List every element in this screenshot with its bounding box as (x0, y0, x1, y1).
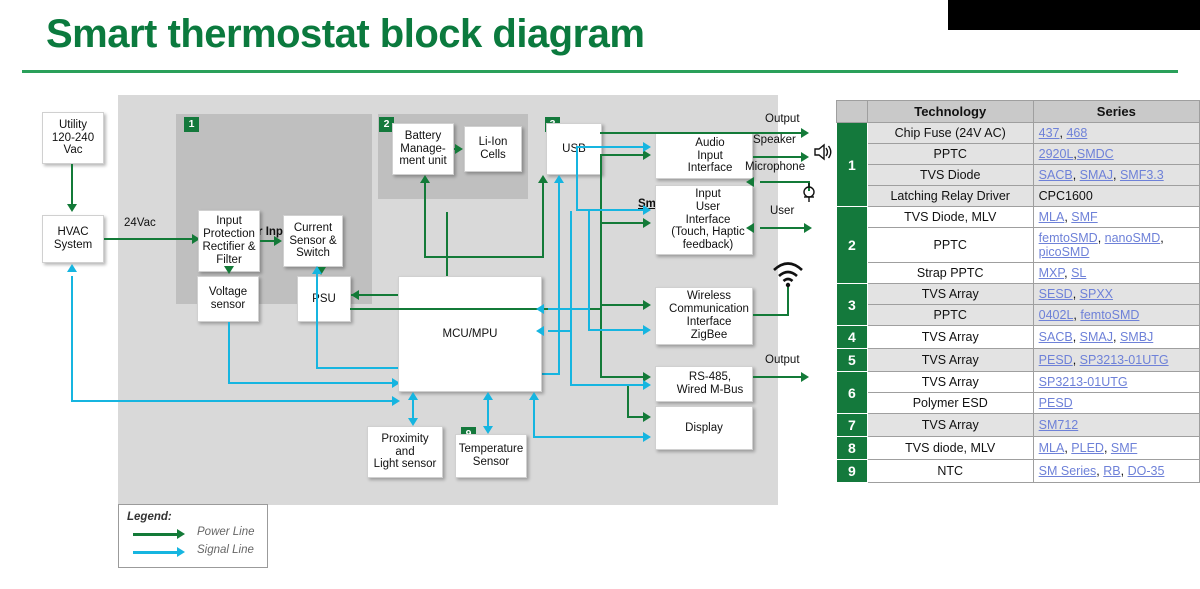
legend-power-line (133, 533, 181, 536)
arrow-user-in (746, 223, 754, 233)
legend-signal-arrow (177, 547, 185, 557)
legend-power-label: Power Line (197, 526, 255, 538)
series-link[interactable]: SMBJ (1120, 330, 1153, 344)
wire-bus-uui (600, 222, 647, 224)
table-row: 9NTCSM Series, RB, DO-35 (837, 460, 1200, 483)
arrow-usb-signal-up (554, 175, 564, 183)
wire-voltage-mcu-h (228, 382, 398, 384)
arrow-return-mcu-1 (536, 304, 544, 314)
node-rs485-wired-mbus: RS-485, Wired M-Bus (655, 366, 753, 402)
wire-user (760, 227, 808, 229)
wire-mcu-rs485-v (570, 211, 572, 386)
wire-hvac-input (104, 238, 194, 240)
arrow-display-mcu-up (529, 392, 539, 400)
arrow-mcu-proximity-down (408, 418, 418, 426)
label-user: User (770, 205, 794, 217)
index-header (837, 101, 868, 123)
node-proximity-light-sensor: Proximity and Light sensor (367, 426, 443, 478)
arrow-utility-hvac (67, 204, 77, 212)
arrow-bus-uui (643, 218, 651, 228)
group-index-5: 5 (837, 349, 868, 372)
group-index-9: 9 (837, 460, 868, 483)
wire-usb-mcu-v (558, 183, 560, 375)
legend-signal-label: Signal Line (197, 544, 254, 556)
group-index-8: 8 (837, 437, 868, 460)
series-cell: SACB, SMAJ, SMBJ (1033, 326, 1199, 349)
table-row: Latching Relay DriverCPC1600 (837, 186, 1200, 207)
technology-cell: PPTC (867, 228, 1033, 263)
table-row: 4TVS ArraySACB, SMAJ, SMBJ (837, 326, 1200, 349)
arrow-return-mcu-2 (536, 326, 544, 336)
arrow-mcu-wireless (643, 325, 651, 335)
legend-box: Legend: Power Line Signal Line (118, 504, 268, 568)
series-cell: SACB, SMAJ, SMF3.3 (1033, 165, 1199, 186)
node-mcu-mpu: MCU/MPU (398, 276, 542, 392)
table-row: 1Chip Fuse (24V AC)437, 468 (837, 123, 1200, 144)
arrow-user-out (804, 223, 812, 233)
wire-mcu-hvac-v (71, 276, 73, 402)
series-link[interactable]: femtoSMD (1080, 308, 1139, 322)
arrow-mcu-temperature-down (483, 426, 493, 434)
node-voltage-sensor: Voltage sensor (197, 276, 259, 322)
microphone-icon (798, 182, 820, 206)
arrow-input-current (274, 236, 282, 246)
wire-antenna-v (787, 284, 789, 316)
series-link[interactable]: PLED (1071, 441, 1104, 455)
series-cell: CPC1600 (1033, 186, 1199, 207)
wire-mcu-audio-v (576, 146, 578, 211)
technology-header: Technology (867, 101, 1033, 123)
series-link[interactable]: MXP (1039, 266, 1064, 280)
series-link[interactable]: MLA (1039, 210, 1065, 224)
wire-mcu-uui (576, 209, 647, 211)
logo-redaction-bar (948, 0, 1200, 30)
wire-bus-wireless (600, 304, 647, 306)
arrow-output-rs485 (801, 372, 809, 382)
technology-cell: TVS Diode, MLV (867, 207, 1033, 228)
group-index-3: 3 (837, 284, 868, 326)
table-row: TVS DiodeSACB, SMAJ, SMF3.3 (837, 165, 1200, 186)
group-index-7: 7 (837, 414, 868, 437)
group-index-2: 2 (837, 207, 868, 284)
arrow-microphone (746, 177, 754, 187)
arrow-mcu-uui (643, 205, 651, 215)
node-input-protection: Input Protection Rectifier & Filter (198, 210, 260, 272)
series-link[interactable]: SACB (1039, 330, 1073, 344)
group-index-6: 6 (837, 372, 868, 414)
tag-1: 1 (184, 117, 199, 132)
technology-cell: Latching Relay Driver (867, 186, 1033, 207)
technology-cell: Strap PPTC (867, 263, 1033, 284)
node-display: Display (655, 406, 753, 450)
series-link[interactable]: PESD (1039, 396, 1073, 410)
wire-mcu-rs485-h (570, 384, 647, 386)
table-row: 6TVS ArraySP3213-01UTG (837, 372, 1200, 393)
node-usb: USB (546, 123, 602, 175)
series-link[interactable]: SMAJ (1080, 168, 1113, 182)
series-link[interactable]: SMF3.3 (1120, 168, 1164, 182)
arrow-usb-psu (351, 290, 359, 300)
series-link[interactable]: SP3213-01UTG (1080, 353, 1169, 367)
series-link[interactable]: SPXX (1080, 287, 1113, 301)
wire-mcu-current-v (316, 271, 318, 369)
label-microphone: Microphone (745, 161, 805, 173)
page-title: Smart thermostat block diagram (46, 12, 826, 57)
series-link[interactable]: picoSMD (1039, 245, 1090, 259)
arrow-mcu-current (312, 266, 322, 274)
wifi-antenna-icon (770, 260, 806, 288)
table-row: PPTC2920L,SMDC (837, 144, 1200, 165)
wire-output-rs485 (753, 376, 805, 378)
series-cell: PESD, SP3213-01UTG (1033, 349, 1199, 372)
series-link[interactable]: 468 (1066, 126, 1087, 140)
technology-cell: TVS Array (867, 326, 1033, 349)
table-row: Polymer ESDPESD (837, 393, 1200, 414)
arrow-hvac-line-mcu (392, 396, 400, 406)
title-divider (22, 70, 1178, 73)
wire-bus-rs485 (600, 376, 647, 378)
series-link[interactable]: SMDC (1077, 147, 1114, 161)
series-cell: SESD, SPXX (1033, 284, 1199, 305)
table-body: 1Chip Fuse (24V AC)437, 468PPTC2920L,SMD… (837, 123, 1200, 483)
wire-antenna-h (753, 314, 789, 316)
series-cell: SM Series, RB, DO-35 (1033, 460, 1199, 483)
arrow-mcu-temperature-up (483, 392, 493, 400)
wire-mcu-hvac-h (71, 400, 398, 402)
technology-cell: PPTC (867, 144, 1033, 165)
series-link[interactable]: 437 (1039, 126, 1060, 140)
wire-mcu-wireless-h (588, 329, 647, 331)
technology-cell: PPTC (867, 305, 1033, 326)
technology-cell: TVS diode, MLV (867, 437, 1033, 460)
group-index-1: 1 (837, 123, 868, 207)
table-row: PPTCfemtoSMD, nanoSMD, picoSMD (837, 228, 1200, 263)
arrow-rs485-display (643, 412, 651, 422)
series-link[interactable]: MLA (1039, 441, 1065, 455)
series-link[interactable]: SM Series (1039, 464, 1097, 478)
series-link[interactable]: 0402L (1039, 308, 1074, 322)
node-liion-cells: Li-Ion Cells (464, 126, 522, 172)
table-row: 5TVS ArrayPESD, SP3213-01UTG (837, 349, 1200, 372)
group-index-4: 4 (837, 326, 868, 349)
arrow-input-voltage (224, 266, 234, 274)
wire-return-mcu-1 (548, 308, 588, 310)
series-cell: 2920L,SMDC (1033, 144, 1199, 165)
series-link[interactable]: SP3213-01UTG (1039, 375, 1128, 389)
wire-mcu-display-v (533, 400, 535, 438)
technology-cell: TVS Array (867, 414, 1033, 437)
node-battery-management-unit: Battery Manage- ment unit (392, 123, 454, 175)
wire-voltage-mcu-v (228, 322, 230, 384)
technology-cell: TVS Array (867, 372, 1033, 393)
node-hvac-system: HVAC System (42, 215, 104, 263)
series-link[interactable]: PESD (1039, 353, 1073, 367)
wire-usb-v (542, 183, 544, 258)
arrow-bmu-liion (455, 144, 463, 154)
table-row: 2TVS Diode, MLVMLA, SMF (837, 207, 1200, 228)
wire-bmu-bus-v (424, 183, 426, 258)
node-current-sensor-switch: Current Sensor & Switch (283, 215, 343, 267)
wire-mcu-audio (576, 146, 647, 148)
wire-mcu-display-h (533, 436, 645, 438)
block-diagram: Smart Thermostat Power Input Utility 120… (0, 86, 826, 589)
label-24vac: 24Vac (124, 217, 156, 229)
wire-bus-audio (600, 154, 647, 156)
arrow-bus-bmu (420, 175, 430, 183)
series-link[interactable]: nanoSMD (1105, 231, 1161, 245)
table-row: PPTC0402L, femtoSMD (837, 305, 1200, 326)
series-cell: 437, 468 (1033, 123, 1199, 144)
arrow-mcu-rs485 (643, 380, 651, 390)
series-link[interactable]: SMF (1111, 441, 1137, 455)
series-link[interactable]: SM712 (1039, 418, 1079, 432)
series-link[interactable]: 2920L (1039, 147, 1074, 161)
series-link[interactable]: RB (1103, 464, 1120, 478)
wire-rs485-display-v (627, 384, 629, 418)
technology-cell: NTC (867, 460, 1033, 483)
speaker-icon (812, 142, 832, 162)
series-link[interactable]: SMF (1071, 210, 1097, 224)
label-output-rs485: Output (765, 354, 800, 366)
series-link[interactable]: SESD (1039, 287, 1073, 301)
series-link[interactable]: SACB (1039, 168, 1073, 182)
arrow-mcu-hvac (67, 264, 77, 272)
wire-utility-hvac (71, 164, 73, 205)
series-link[interactable]: SMAJ (1080, 330, 1113, 344)
table-row: 8TVS diode, MLVMLA, PLED, SMF (837, 437, 1200, 460)
label-speaker: Speaker (753, 134, 796, 146)
node-temperature-sensor: Temperature Sensor (455, 434, 527, 478)
node-audio-input-interface: Audio Input Interface (655, 133, 753, 179)
series-cell: MXP, SL (1033, 263, 1199, 284)
series-link[interactable]: DO-35 (1128, 464, 1165, 478)
series-link[interactable]: femtoSMD (1039, 231, 1098, 245)
series-cell: femtoSMD, nanoSMD, picoSMD (1033, 228, 1199, 263)
arrow-mcu-proximity-up (408, 392, 418, 400)
node-utility: Utility 120-240 Vac (42, 112, 104, 164)
series-cell: MLA, SMF (1033, 207, 1199, 228)
table-row: 3TVS ArraySESD, SPXX (837, 284, 1200, 305)
node-wireless-communication-interface: Wireless Communication Interface ZigBee (655, 287, 753, 345)
technology-cell: Chip Fuse (24V AC) (867, 123, 1033, 144)
wire-bmu-bus-h (424, 256, 544, 258)
technology-cell: Polymer ESD (867, 393, 1033, 414)
legend-power-arrow (177, 529, 185, 539)
arrow-mcu-display (643, 432, 651, 442)
technology-series-table: Technology Series 1Chip Fuse (24V AC)437… (836, 100, 1200, 483)
technology-cell: TVS Array (867, 349, 1033, 372)
series-cell: SM712 (1033, 414, 1199, 437)
wire-bus-right-v (600, 154, 602, 322)
table-row: 7TVS ArraySM712 (837, 414, 1200, 437)
wire-speaker (753, 156, 805, 158)
arrow-output-top (801, 128, 809, 138)
series-cell: PESD (1033, 393, 1199, 414)
node-psu: PSU (297, 276, 351, 322)
technology-cell: TVS Diode (867, 165, 1033, 186)
technology-cell: TVS Array (867, 284, 1033, 305)
series-cell: SP3213-01UTG (1033, 372, 1199, 393)
table-header-row: Technology Series (837, 101, 1200, 123)
legend-signal-line (133, 551, 181, 554)
table-row: Strap PPTCMXP, SL (837, 263, 1200, 284)
legend-title: Legend: (127, 511, 172, 523)
node-input-user-interface: Input User Interface (Touch, Haptic feed… (655, 185, 753, 255)
arrow-usb-up (538, 175, 548, 183)
series-link[interactable]: SL (1071, 266, 1086, 280)
series-cell: MLA, PLED, SMF (1033, 437, 1199, 460)
label-output-top: Output (765, 113, 800, 125)
series-cell: 0402L, femtoSMD (1033, 305, 1199, 326)
wire-mcu-wireless-v (588, 211, 590, 331)
arrow-bus-wireless (643, 300, 651, 310)
wire-return-mcu-2 (548, 330, 572, 332)
series-header: Series (1033, 101, 1199, 123)
arrow-mcu-audio (643, 142, 651, 152)
